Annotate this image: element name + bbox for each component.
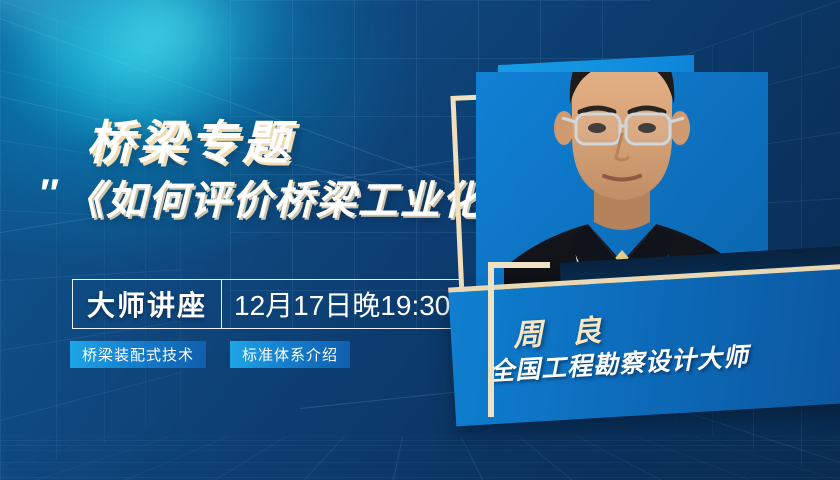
frame-stripe-vertical [488,262,494,417]
lecture-label: 大师讲座 [87,284,207,324]
frame-stripe-horizontal [488,262,550,268]
speaker-name-panel: 周 良 全国工程勘察设计大师 [448,268,840,427]
lecture-datetime: 12月17日晚19:30 [234,284,450,324]
topic-tag-list: 桥梁装配式技术 标准体系介绍 [70,341,350,368]
quote-open-icon: ″ [38,174,53,214]
speaker-section: 周 良 全国工程勘察设计大师 [440,0,840,480]
topic-tag[interactable]: 标准体系介绍 [230,341,350,368]
lecture-info-box: 大师讲座 12月17日晚19:30 [72,279,463,329]
lecture-label-cell: 大师讲座 [73,280,221,328]
page-title: 桥梁专题 [86,104,294,173]
topic-tag[interactable]: 桥梁装配式技术 [70,341,206,368]
lecture-datetime-cell: 12月17日晚19:30 [221,280,462,328]
webinar-poster: 桥梁专题 ″ 《如何评价桥梁工业化》 ″ 大师讲座 12月17日晚19:30 桥… [0,0,840,480]
